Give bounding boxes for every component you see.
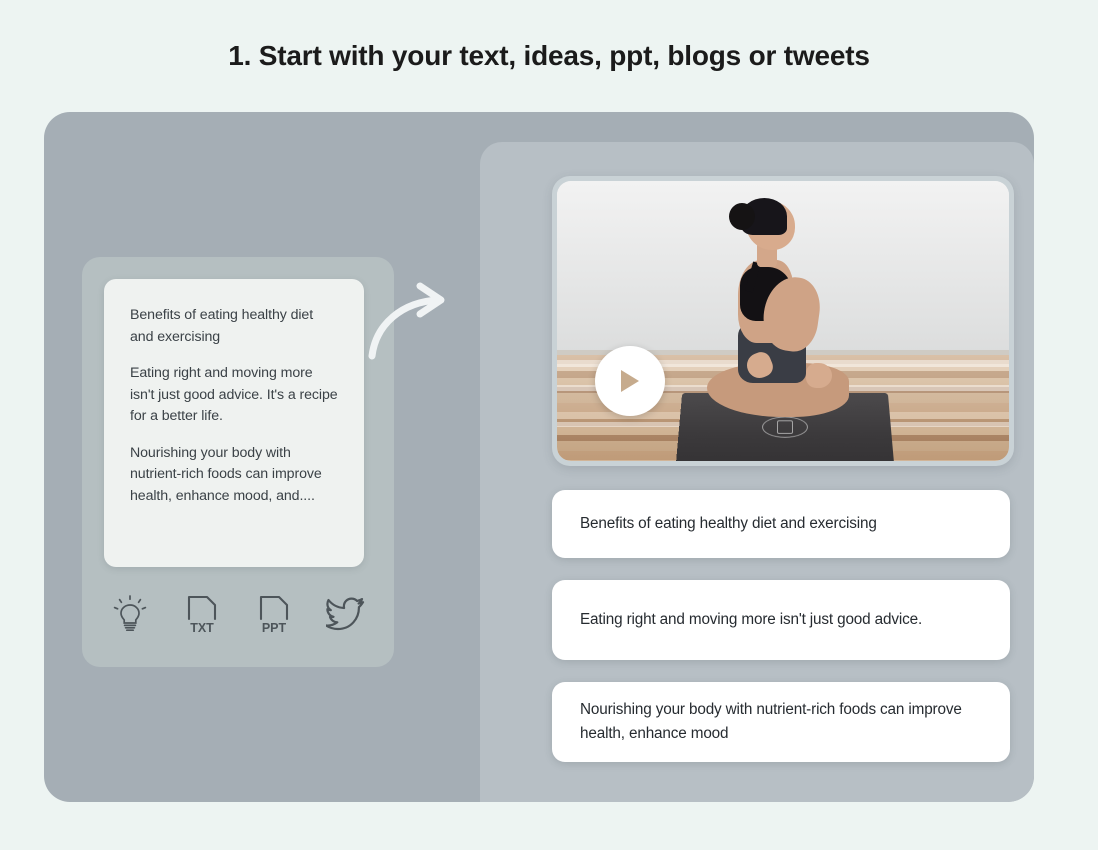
output-card-text: Benefits of eating healthy diet and exer… [580, 512, 877, 536]
twitter-bird-icon[interactable] [323, 590, 369, 638]
flow-arrow [362, 280, 472, 370]
source-paragraph: Benefits of eating healthy diet and exer… [130, 305, 340, 348]
play-icon [617, 367, 643, 395]
video-thumbnail[interactable] [552, 176, 1014, 466]
source-paragraph: Eating right and moving more isn't just … [130, 363, 340, 428]
video-frame [557, 181, 1009, 461]
ppt-file-label: PPT [262, 621, 287, 635]
lightbulb-icon[interactable] [107, 590, 153, 638]
source-paragraph: Nourishing your body with nutrient-rich … [130, 443, 340, 508]
curved-arrow-icon [362, 280, 472, 370]
txt-file-icon[interactable]: TXT [179, 590, 225, 638]
person-figure [720, 201, 874, 447]
input-source-icons: TXT PPT [82, 581, 394, 647]
output-card-text: Nourishing your body with nutrient-rich … [580, 698, 982, 746]
person-hair-bun [729, 203, 755, 230]
source-text-card[interactable]: Benefits of eating healthy diet and exer… [82, 257, 394, 667]
ppt-file-icon[interactable]: PPT [251, 590, 297, 638]
output-panel: Benefits of eating healthy diet and exer… [480, 142, 1034, 802]
output-card[interactable]: Benefits of eating healthy diet and exer… [552, 490, 1010, 558]
source-text-sheet: Benefits of eating healthy diet and exer… [104, 279, 364, 567]
output-card-text: Eating right and moving more isn't just … [580, 608, 922, 632]
output-card[interactable]: Nourishing your body with nutrient-rich … [552, 682, 1010, 762]
txt-file-label: TXT [190, 621, 214, 635]
output-card[interactable]: Eating right and moving more isn't just … [552, 580, 1010, 660]
illustration-panel: Benefits of eating healthy diet and exer… [44, 112, 1034, 802]
person-hand [806, 363, 832, 388]
page-title: 1. Start with your text, ideas, ppt, blo… [0, 40, 1098, 72]
